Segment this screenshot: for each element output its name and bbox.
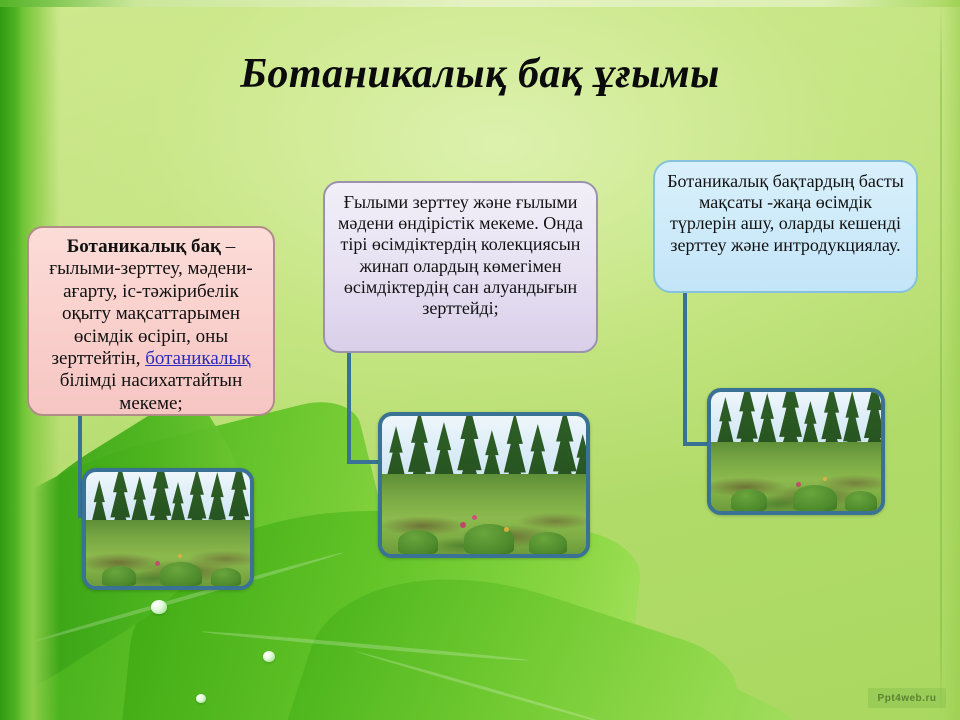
top-highlight-strip [0,0,960,7]
botanical-link[interactable]: ботаникалық [145,348,250,369]
callout-box-purpose: Ботаникалық бақтардың басты мақсаты -жаң… [653,160,918,293]
botanical-garden-photo-3 [707,388,885,515]
left-green-edge [0,0,22,720]
water-droplet-icon [263,651,275,662]
water-droplet-icon [196,694,206,703]
right-hairline [940,0,942,720]
callout-box-definition: Ботаникалық бақ – ғылыми-зерттеу, мәдени… [27,226,275,416]
definition-dash: – [221,236,235,257]
botanical-garden-photo-1 [82,468,254,590]
definition-lead: Ботаникалық бақ [67,236,221,257]
watermark-logo: Ppt4web.ru [868,688,946,708]
water-droplet-icon [151,600,167,614]
definition-text-after-link: білімді насихаттайтын мекеме; [60,370,243,413]
connector-line-3-vertical [683,291,687,446]
callout-box-research: Ғылыми зерттеу және ғылыми мәдени өндірі… [323,181,598,353]
right-edge-shade [942,0,960,720]
slide-title: Ботаникалық бақ ұғымы [0,50,960,98]
botanical-garden-photo-2 [378,412,590,558]
presentation-slide: Ботаникалық бақ ұғымы [0,0,960,720]
connector-line-2-vertical [347,351,351,464]
